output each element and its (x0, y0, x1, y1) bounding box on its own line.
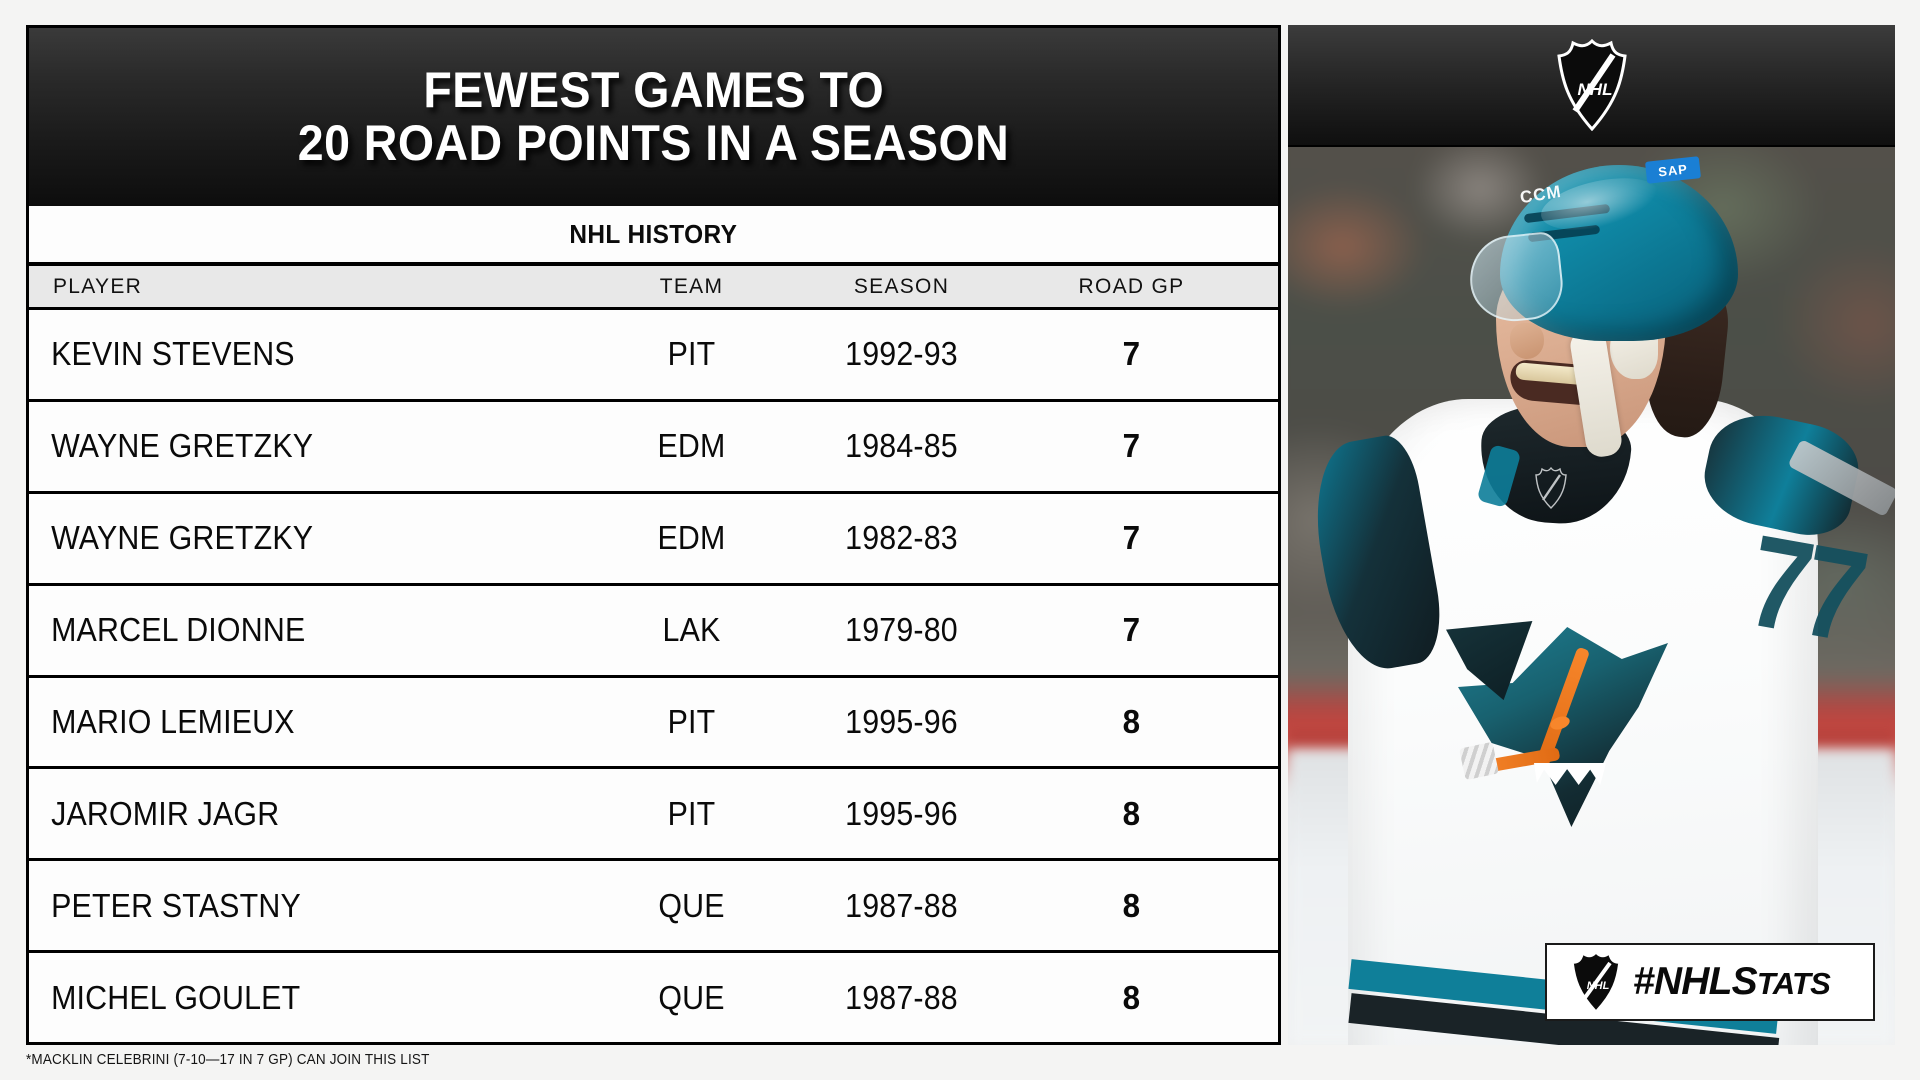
cell-season: 1987-88 (803, 979, 1001, 1017)
table-body: KEVIN STEVENS PIT 1992-93 7 WAYNE GRETZK… (29, 310, 1278, 1042)
table-row: MARIO LEMIEUX PIT 1995-96 8 (29, 678, 1278, 770)
cell-team: EDM (597, 427, 786, 465)
table-row: MICHEL GOULET QUE 1987-88 8 (29, 953, 1278, 1042)
nhlstats-wordmark: #NHLSTATS (1633, 960, 1830, 1004)
cell-player: KEVIN STEVENS (29, 335, 544, 373)
nhl-stats-graphic: FEWEST GAMES TO 20 ROAD POINTS IN A SEAS… (0, 0, 1920, 1080)
cell-road-gp: 8 (1015, 887, 1248, 925)
cell-team: QUE (597, 887, 786, 925)
nose (1510, 323, 1544, 359)
cell-player: MICHEL GOULET (29, 979, 544, 1017)
cell-road-gp: 8 (1015, 703, 1248, 741)
cell-road-gp: 8 (1015, 979, 1248, 1017)
badge-stats-s: S (1732, 960, 1757, 1003)
player-figure: 77 (1288, 147, 1895, 1045)
cell-player: WAYNE GRETZKY (29, 519, 544, 557)
badge-hash-nhl: #NHL (1633, 960, 1732, 1003)
cell-team: PIT (597, 795, 786, 833)
stats-table-panel: FEWEST GAMES TO 20 ROAD POINTS IN A SEAS… (26, 25, 1281, 1045)
player-photograph: 77 (1288, 147, 1895, 1045)
cell-player: JAROMIR JAGR (29, 795, 544, 833)
column-header-road-gp: ROAD GP (1009, 275, 1254, 299)
cell-player: MARIO LEMIEUX (29, 703, 544, 741)
cell-season: 1995-96 (803, 795, 1001, 833)
subtitle-row: NHL HISTORY (29, 206, 1278, 266)
footnote-text: *MACKLIN CELEBRINI (7-10—17 IN 7 GP) CAN… (26, 1051, 430, 1068)
table-row: WAYNE GRETZKY EDM 1982-83 7 (29, 494, 1278, 586)
column-header-team: TEAM (589, 275, 794, 299)
player-photo-panel: NHL 77 (1288, 25, 1895, 1045)
table-column-header-row: PLAYER TEAM SEASON ROAD GP (29, 266, 1278, 310)
helmet-sponsor-patch: SAP (1645, 156, 1701, 184)
cell-team: QUE (597, 979, 786, 1017)
cell-season: 1995-96 (803, 703, 1001, 741)
helmet-sponsor-label: SAP (1657, 161, 1688, 179)
nhl-shield-icon: NHL (1555, 39, 1629, 131)
cell-season: 1979-80 (803, 611, 1001, 649)
sharks-team-logo (1438, 617, 1688, 847)
column-header-player: PLAYER (29, 275, 589, 299)
table-row: WAYNE GRETZKY EDM 1984-85 7 (29, 402, 1278, 494)
shark-stick-tape (1459, 742, 1499, 780)
cell-team: PIT (597, 703, 786, 741)
table-row: JAROMIR JAGR PIT 1995-96 8 (29, 769, 1278, 861)
cell-season: 1987-88 (803, 887, 1001, 925)
column-header-season: SEASON (794, 275, 1009, 299)
svg-text:NHL: NHL (1587, 980, 1610, 992)
cell-team: PIT (597, 335, 786, 373)
subtitle-text: NHL HISTORY (569, 219, 737, 250)
cell-season: 1982-83 (803, 519, 1001, 557)
nhlstats-badge: NHL #NHLSTATS (1545, 943, 1875, 1021)
cell-season: 1984-85 (803, 427, 1001, 465)
cell-season: 1992-93 (803, 335, 1001, 373)
svg-text:NHL: NHL (1577, 80, 1612, 99)
table-row: KEVIN STEVENS PIT 1992-93 7 (29, 310, 1278, 402)
cell-road-gp: 7 (1015, 427, 1248, 465)
badge-stats-rest: TATS (1757, 966, 1830, 1001)
cell-road-gp: 7 (1015, 335, 1248, 373)
cell-road-gp: 7 (1015, 611, 1248, 649)
nhl-collar-shield-icon (1534, 467, 1568, 509)
cell-team: LAK (597, 611, 786, 649)
cell-team: EDM (597, 519, 786, 557)
title-line-1: FEWEST GAMES TO (423, 64, 884, 117)
table-row: MARCEL DIONNE LAK 1979-80 7 (29, 586, 1278, 678)
nhlstats-shield-icon: NHL (1571, 952, 1621, 1012)
title-header: FEWEST GAMES TO 20 ROAD POINTS IN A SEAS… (29, 28, 1278, 206)
title-line-2: 20 ROAD POINTS IN A SEASON (298, 117, 1009, 170)
table-row: PETER STASTNY QUE 1987-88 8 (29, 861, 1278, 953)
cell-road-gp: 7 (1015, 519, 1248, 557)
nhl-logo-bar: NHL (1288, 25, 1895, 147)
cell-player: WAYNE GRETZKY (29, 427, 544, 465)
cell-player: MARCEL DIONNE (29, 611, 544, 649)
cell-road-gp: 8 (1015, 795, 1248, 833)
cell-player: PETER STASTNY (29, 887, 544, 925)
